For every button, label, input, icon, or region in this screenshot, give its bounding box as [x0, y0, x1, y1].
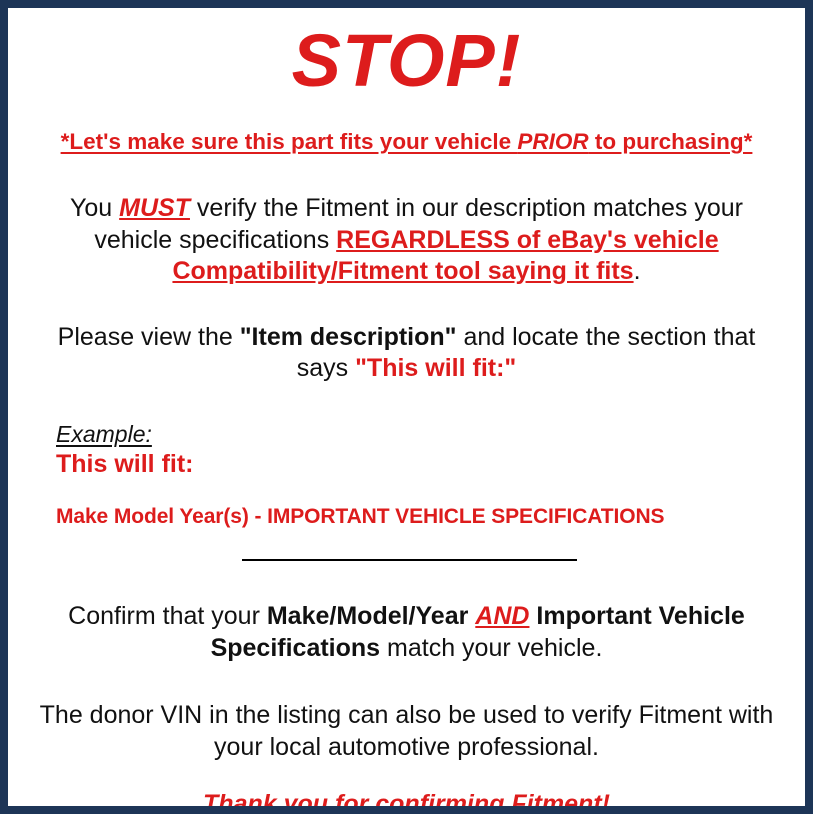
notice-border-frame: STOP! *Let's make sure this part fits yo…	[0, 0, 813, 814]
notice-card: STOP! *Let's make sure this part fits yo…	[8, 8, 805, 806]
must-text-1: You	[70, 194, 119, 222]
example-label: Example:	[56, 421, 805, 447]
example-spec-line: Make Model Year(s) - IMPORTANT VEHICLE S…	[56, 504, 805, 529]
example-fit-header: This will fit:	[56, 449, 805, 480]
tagline-prefix: *Let's make sure this part fits your veh…	[61, 129, 518, 154]
and-emphasis: AND	[475, 602, 529, 630]
paragraph-view-description: Please view the "Item description" and l…	[8, 322, 805, 385]
this-will-fit-emphasis: "This will fit:"	[355, 354, 516, 382]
view-text-1: Please view the	[58, 323, 240, 351]
confirm-text-2: match your vehicle.	[380, 634, 602, 662]
divider-rule	[242, 559, 577, 561]
paragraph-confirm: Confirm that your Make/Model/Year AND Im…	[8, 601, 805, 664]
paragraph-donor-vin: The donor VIN in the listing can also be…	[8, 700, 805, 763]
must-text-3: .	[634, 257, 641, 285]
paragraph-must-verify: You MUST verify the Fitment in our descr…	[8, 193, 805, 288]
example-block: Example: This will fit: Make Model Year(…	[8, 421, 805, 530]
stop-headline: STOP!	[8, 8, 805, 98]
confirm-text-1: Confirm that your	[68, 602, 267, 630]
donor-vin-text: The donor VIN in the listing can also be…	[40, 701, 774, 761]
tagline-suffix: to purchasing*	[589, 129, 753, 154]
divider	[8, 553, 805, 567]
item-description-emphasis: "Item description"	[240, 323, 457, 351]
fitment-tagline: *Let's make sure this part fits your veh…	[8, 128, 805, 155]
tagline-prior-emphasis: PRIOR	[517, 129, 588, 154]
make-model-year-emphasis: Make/Model/Year	[267, 602, 468, 630]
closing-thank-you: Thank you for confirming Fitment!	[8, 789, 805, 806]
must-emphasis: MUST	[119, 194, 190, 222]
